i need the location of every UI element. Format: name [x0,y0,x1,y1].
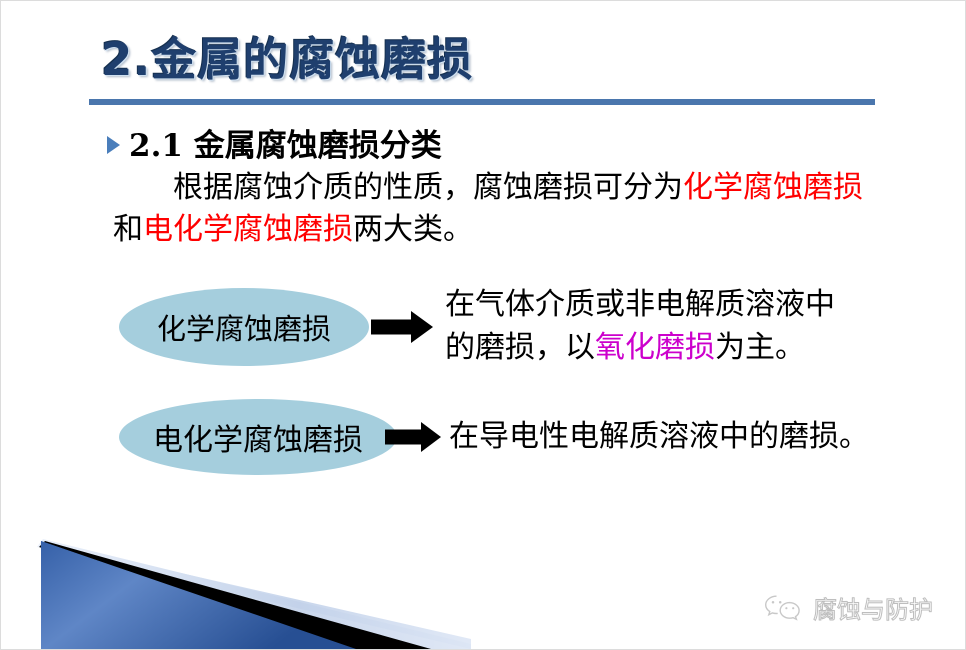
arrow-right-icon [371,310,433,344]
intro-paragraph: 根据腐蚀介质的性质，腐蚀磨损可分为化学腐蚀磨损和电化学腐蚀磨损两大类。 [113,167,873,251]
presentation-slide: 2.金属的腐蚀磨损 2.1 金属腐蚀磨损分类 根据腐蚀介质的性质，腐蚀磨损可分为… [0,0,966,650]
slide-title: 2.金属的腐蚀磨损 [101,23,473,88]
flow-desc-post: 为主。 [715,330,805,365]
watermark-label: 腐蚀与防护 [813,590,933,625]
arrow-right-icon [385,421,441,453]
flow-row-electrochemical: 电化学腐蚀磨损 在导电性电解质溶液中的磨损。 [119,399,869,475]
arrow-shaft [385,430,423,445]
paragraph-part-1: 根据腐蚀介质的性质，腐蚀磨损可分为 [173,170,683,205]
paragraph-part-3: 两大类。 [353,212,473,247]
arrow-head [421,422,441,452]
corner-decoration-graphic [1,539,471,649]
flow-description-line-2: 的磨损，以氧化磨损为主。 [445,327,835,370]
ellipse-label: 电化学腐蚀磨损 [153,415,363,459]
wechat-icon [763,593,803,623]
triangle-right-icon [107,136,120,154]
flow-desc-pre: 的磨损，以 [445,330,595,365]
title-divider-rule [89,99,875,105]
flow-description-line-1: 在气体介质或非电解质溶液中 [445,284,835,327]
arrow-head [411,311,433,343]
section-heading-label: 2.1 金属腐蚀磨损分类 [129,120,442,165]
flow-description-chemical: 在气体介质或非电解质溶液中 的磨损，以氧化磨损为主。 [445,284,835,369]
section-heading-row: 2.1 金属腐蚀磨损分类 [107,120,442,165]
flow-row-chemical: 化学腐蚀磨损 在气体介质或非电解质溶液中 的磨损，以氧化磨损为主。 [119,284,835,369]
flow-description-electrochemical: 在导电性电解质溶液中的磨损。 [449,416,869,459]
ellipse-electrochemical-corrosion-wear[interactable]: 电化学腐蚀磨损 [119,399,397,475]
paragraph-highlight-chemical: 化学腐蚀磨损 [683,170,863,205]
arrow-shaft [371,319,415,334]
watermark: 腐蚀与防护 [763,590,933,625]
flow-description-line-1: 在导电性电解质溶液中的磨损。 [449,416,869,459]
ellipse-label: 化学腐蚀磨损 [157,306,331,348]
paragraph-part-2: 和 [113,212,143,247]
flow-desc-highlight-oxidation-wear: 氧化磨损 [595,330,715,365]
ellipse-chemical-corrosion-wear[interactable]: 化学腐蚀磨损 [119,288,369,366]
paragraph-highlight-electrochemical: 电化学腐蚀磨损 [143,212,353,247]
